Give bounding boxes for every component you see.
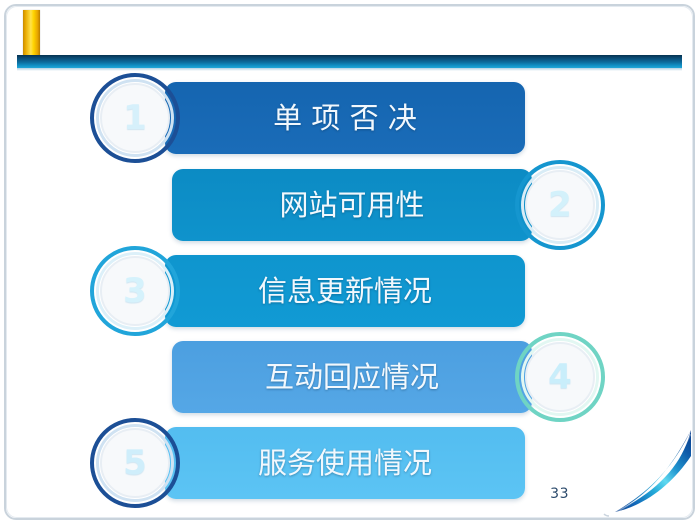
- row-label-1: 单 项 否 决: [165, 82, 525, 154]
- row-number-4: 4: [548, 360, 572, 394]
- row-label-5: 服务使用情况: [165, 427, 525, 499]
- row-number-1: 1: [123, 101, 147, 135]
- row-badge-2[interactable]: 2: [515, 160, 605, 250]
- row-number-3: 3: [123, 274, 147, 308]
- blue-divider-rule: [17, 55, 682, 68]
- row-badge-4[interactable]: 4: [515, 332, 605, 422]
- row-number-5: 5: [123, 446, 147, 480]
- row-bar-4[interactable]: 互动回应情况: [172, 341, 532, 413]
- page-number: 33: [550, 486, 569, 502]
- list-item: 服务使用情况 5: [0, 427, 699, 499]
- row-bar-2[interactable]: 网站可用性: [172, 169, 532, 241]
- blue-divider-shadow: [17, 68, 682, 71]
- row-bar-5[interactable]: 服务使用情况: [165, 427, 525, 499]
- list-item: 互动回应情况 4: [0, 341, 699, 413]
- row-badge-1[interactable]: 1: [90, 73, 180, 163]
- row-badge-3[interactable]: 3: [90, 246, 180, 336]
- gold-accent-bar: [23, 10, 40, 58]
- row-label-4: 互动回应情况: [172, 341, 532, 413]
- list-item: 信息更新情况 3: [0, 255, 699, 327]
- row-badge-5[interactable]: 5: [90, 418, 180, 508]
- row-label-2: 网站可用性: [172, 169, 532, 241]
- list-item: 单 项 否 决 1: [0, 82, 699, 154]
- slide-canvas: 单 项 否 决 1 网站可用性 2 信息更新情况 3: [0, 0, 699, 524]
- row-label-3: 信息更新情况: [165, 255, 525, 327]
- row-bar-1[interactable]: 单 项 否 决: [165, 82, 525, 154]
- list-item: 网站可用性 2: [0, 169, 699, 241]
- row-bar-3[interactable]: 信息更新情况: [165, 255, 525, 327]
- row-number-2: 2: [548, 188, 572, 222]
